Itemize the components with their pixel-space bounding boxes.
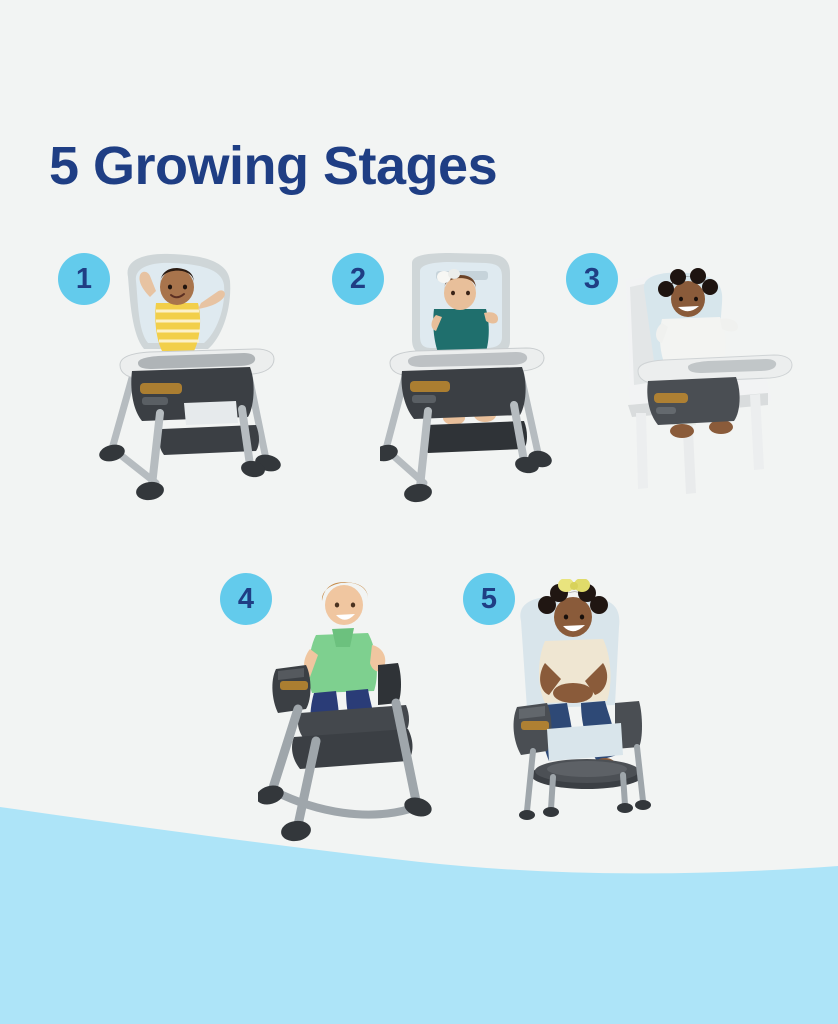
stage-4: 4	[220, 573, 440, 853]
stage-2: 2	[332, 253, 547, 513]
stage-badge-2: 2	[332, 253, 384, 305]
stage-3: 3	[566, 253, 796, 513]
stage-3-illustration	[618, 263, 798, 508]
stage-5: 5	[463, 573, 663, 833]
page-title: 5 Growing Stages	[49, 138, 497, 195]
stage-badge-1: 1	[58, 253, 110, 305]
stage-2-illustration	[380, 253, 555, 508]
hair-bow-5	[558, 579, 590, 592]
stage-4-illustration	[258, 573, 443, 853]
stage-1-illustration	[98, 253, 288, 508]
stage-5-illustration	[503, 579, 668, 829]
stage-badge-5: 5	[463, 573, 515, 625]
promo-canvas: 5 Growing Stages 1	[0, 0, 838, 1024]
stage-badge-4: 4	[220, 573, 272, 625]
stage-badge-3: 3	[566, 253, 618, 305]
stage-1: 1	[58, 253, 288, 513]
